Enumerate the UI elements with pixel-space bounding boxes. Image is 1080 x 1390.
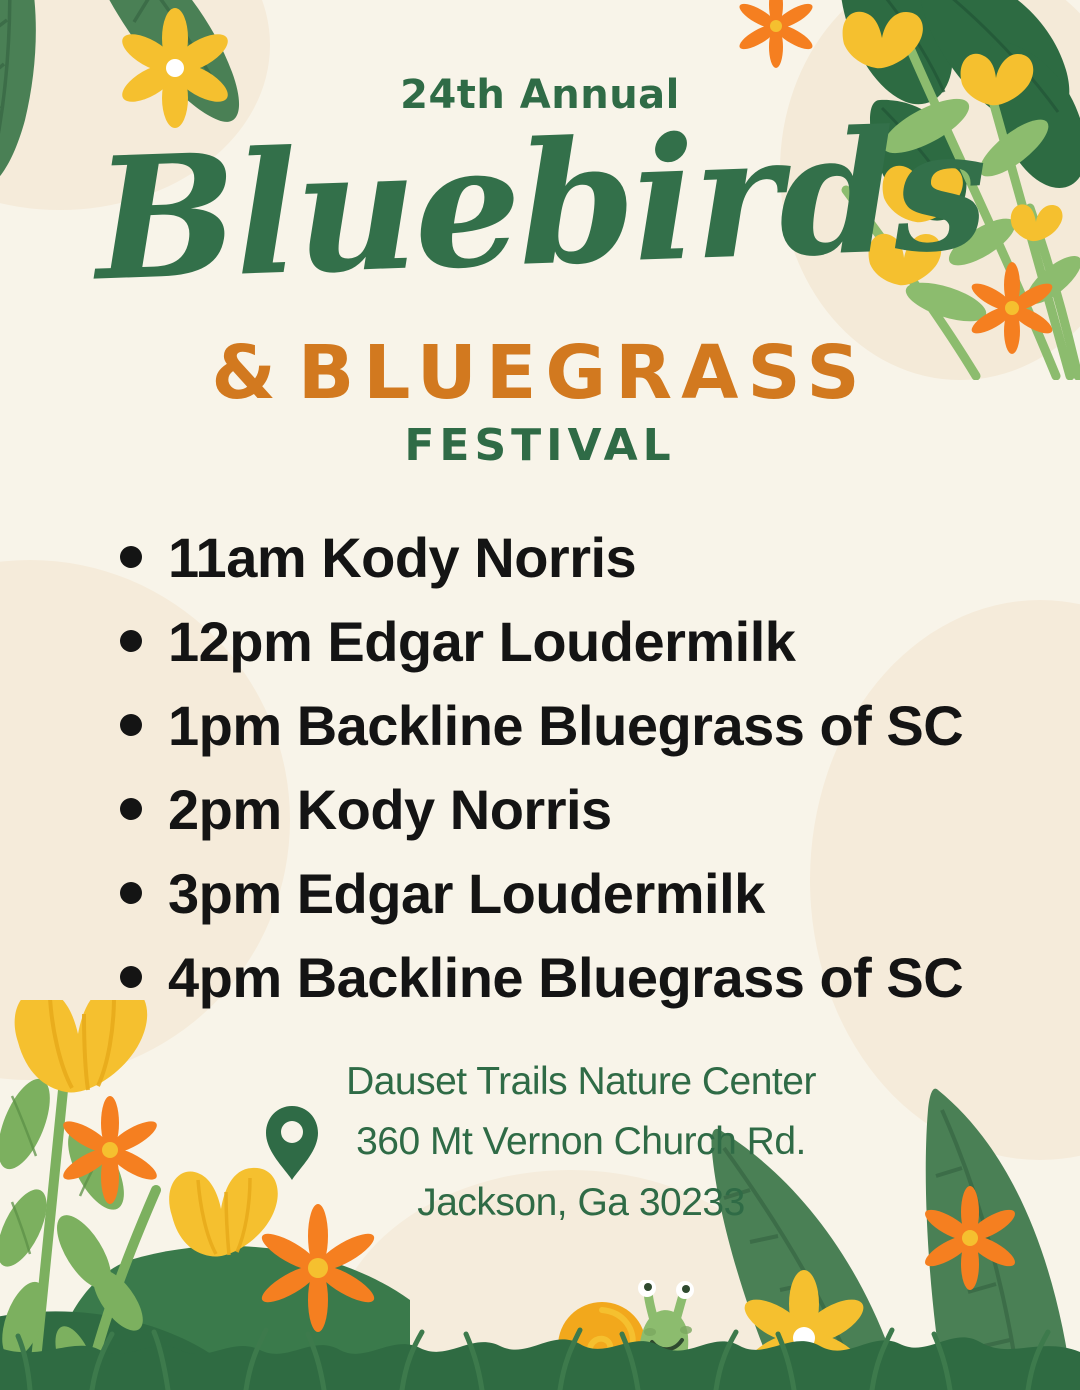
list-item: 1pm Backline Bluegrass of SC: [120, 683, 1080, 767]
venue-name: Dauset Trails Nature Center: [346, 1052, 816, 1112]
list-item: 11am Kody Norris: [120, 515, 1080, 599]
list-item: 12pm Edgar Loudermilk: [120, 599, 1080, 683]
schedule-entry: 12pm Edgar Loudermilk: [168, 609, 795, 674]
grass-strip: [0, 1300, 1080, 1390]
venue-city-state-zip: Jackson, Ga 30233: [346, 1173, 816, 1233]
page-title: Bluebirds: [0, 101, 1080, 307]
bullet-icon: [120, 798, 142, 820]
venue-address: Dauset Trails Nature Center 360 Mt Verno…: [346, 1052, 816, 1233]
title-bluegrass: &BLUEGRASS: [0, 330, 1080, 416]
bullet-icon: [120, 630, 142, 652]
bullet-icon: [120, 546, 142, 568]
schedule-list: 11am Kody Norris 12pm Edgar Loudermilk 1…: [120, 515, 1080, 1019]
yellow-flower-icon: [738, 1270, 870, 1390]
bullet-icon: [120, 966, 142, 988]
festival-poster: 24th Annual Bluebirds &BLUEGRASS FESTIVA…: [0, 0, 1080, 1390]
bullet-icon: [120, 882, 142, 904]
snail-illustration: [540, 1280, 740, 1390]
venue-street: 360 Mt Vernon Church Rd.: [346, 1112, 816, 1172]
schedule-entry: 1pm Backline Bluegrass of SC: [168, 693, 963, 758]
bullet-icon: [120, 714, 142, 736]
bluegrass-word: BLUEGRASS: [298, 330, 869, 416]
location-pin-icon: [264, 1104, 320, 1182]
schedule-entry: 11am Kody Norris: [168, 525, 636, 590]
list-item: 3pm Edgar Loudermilk: [120, 851, 1080, 935]
schedule-entry: 4pm Backline Bluegrass of SC: [168, 945, 963, 1010]
list-item: 2pm Kody Norris: [120, 767, 1080, 851]
venue-block: Dauset Trails Nature Center 360 Mt Verno…: [0, 1052, 1080, 1233]
ampersand: &: [211, 330, 298, 416]
list-item: 4pm Backline Bluegrass of SC: [120, 935, 1080, 1019]
schedule-entry: 3pm Edgar Loudermilk: [168, 861, 765, 926]
schedule-entry: 2pm Kody Norris: [168, 777, 612, 842]
subtitle-festival: FESTIVAL: [0, 420, 1080, 471]
